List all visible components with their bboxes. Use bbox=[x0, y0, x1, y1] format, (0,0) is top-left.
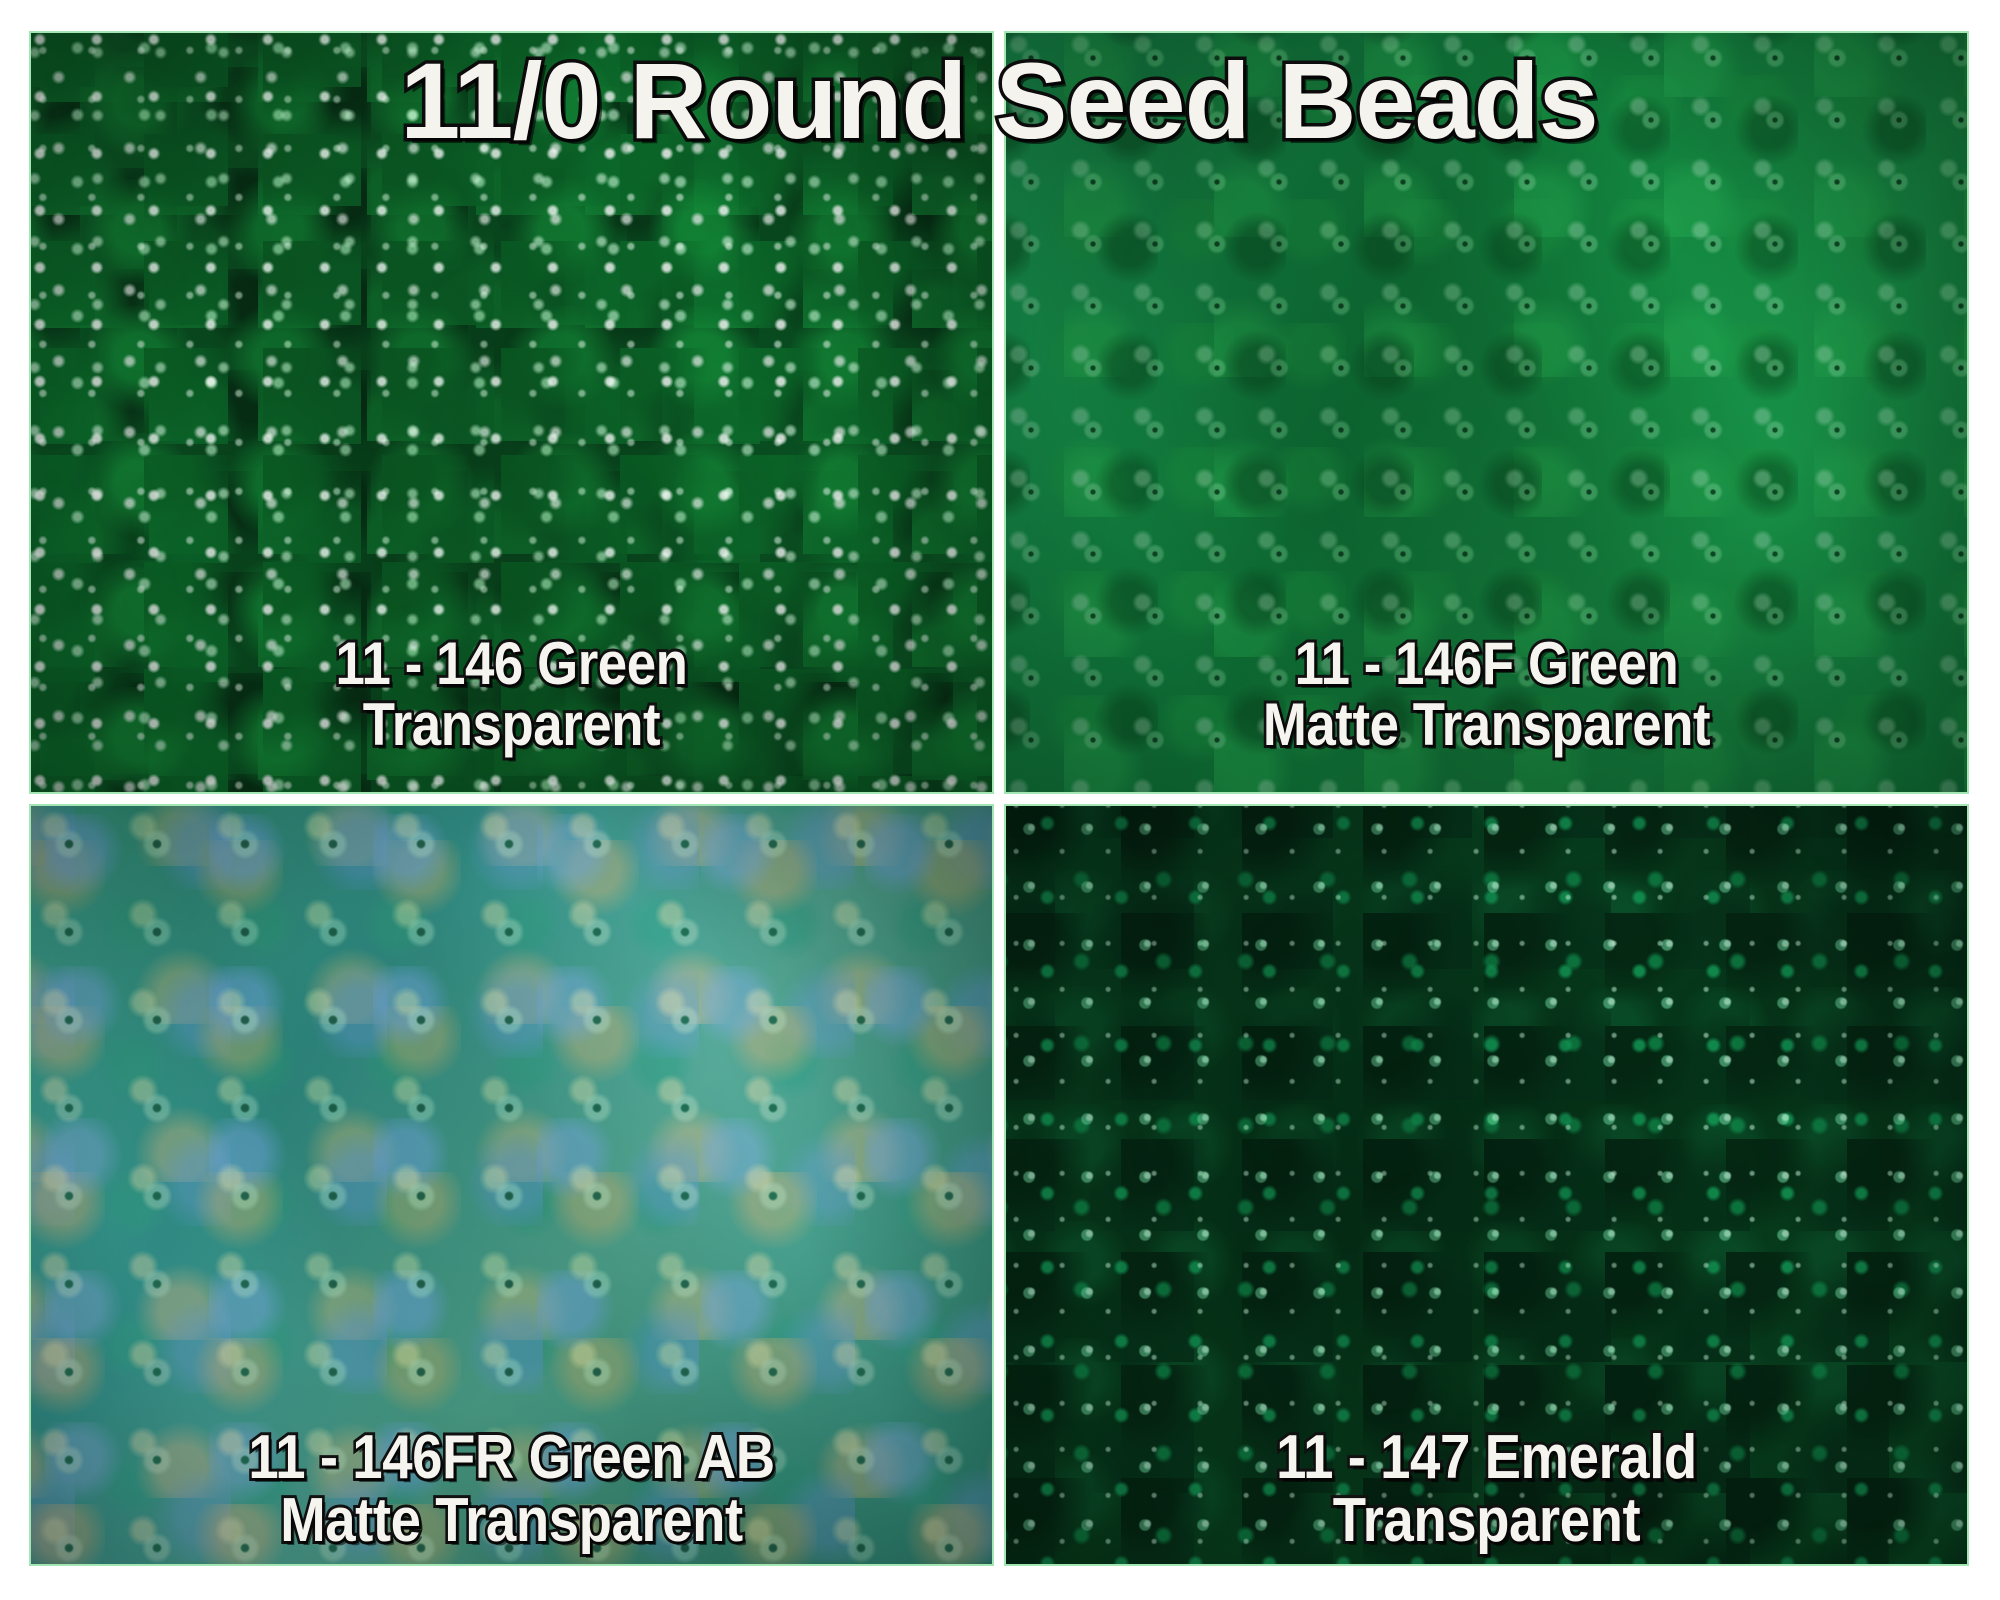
seed-bead-color-chart: 11 - 146 Green Transparent 11 - 146F Gre… bbox=[29, 31, 1969, 1566]
bead-texture-green-ab-matte-transparent bbox=[29, 804, 994, 1567]
swatch-cell-top-right[interactable]: 11 - 146F Green Matte Transparent bbox=[1004, 31, 1969, 794]
bead-texture-green-transparent bbox=[29, 31, 994, 794]
swatch-cell-top-left[interactable]: 11 - 146 Green Transparent bbox=[29, 31, 994, 794]
swatch-grid: 11 - 146 Green Transparent 11 - 146F Gre… bbox=[29, 31, 1969, 1566]
swatch-cell-bottom-right[interactable]: 11 - 147 Emerald Transparent bbox=[1004, 804, 1969, 1567]
bead-texture-emerald-transparent bbox=[1004, 804, 1969, 1567]
swatch-cell-bottom-left[interactable]: 11 - 146FR Green AB Matte Transparent bbox=[29, 804, 994, 1567]
bead-texture-green-matte-transparent bbox=[1004, 31, 1969, 794]
